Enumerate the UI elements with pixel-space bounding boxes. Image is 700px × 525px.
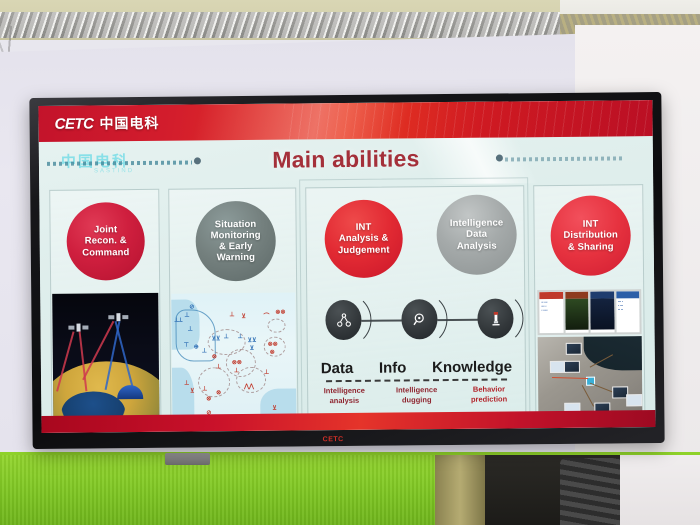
flow-label-data: Data xyxy=(321,360,354,377)
flow-sub-data: Intelligence analysis xyxy=(311,386,377,407)
cetc-logo-cn: 中国电科 xyxy=(99,113,159,134)
panel-row: Joint Recon. & Command xyxy=(49,184,645,428)
panel-situation-monitoring[interactable]: Situation Monitoring & Early Warning xyxy=(168,187,298,426)
map-ring-6 xyxy=(267,319,285,333)
map-ring-3 xyxy=(198,367,230,397)
panel-int-analysis-wrapper: INT Analysis & Judgement Intelligence Da… xyxy=(305,185,526,425)
magnifier-icon xyxy=(411,311,428,328)
panel-joint-recon[interactable]: Joint Recon. & Command xyxy=(49,189,161,428)
bubble-ida-label: Intelligence Data Analysis xyxy=(450,218,504,252)
dot-node-right xyxy=(496,154,503,161)
thumbnail-3[interactable] xyxy=(590,291,614,332)
network-node-3 xyxy=(564,361,580,373)
process-flow: Data Info Knowledge Intelligence analysi… xyxy=(307,298,525,420)
tv-screen: CETC 中国电科 中国电科 SASTIND Main abilities xyxy=(38,100,655,433)
network-link-1 xyxy=(552,377,588,379)
bubble-int-analysis-label: INT Analysis & Judgement xyxy=(338,222,390,256)
band-linework xyxy=(284,100,653,140)
thumbnail-1[interactable]: ▪▪ ▪▪▪▪▪▪ ▪▪ ▪▪▪▪ xyxy=(539,292,563,333)
panel-int-distribution[interactable]: INT Distribution & Sharing ▪▪ ▪▪▪▪▪▪ ▪▪ … xyxy=(533,184,645,423)
thumbnail-4[interactable]: ▪▪▪ ▪▪ ▪▪▪▪▪ ▪▪ xyxy=(616,291,640,332)
flow-label-info: Info xyxy=(379,359,407,376)
panel-int-analysis[interactable]: INT Analysis & Judgement Intelligence Da… xyxy=(305,185,526,425)
tv-brand-logo: CETC xyxy=(323,436,344,443)
floor-right xyxy=(620,455,700,525)
bubble-int-analysis[interactable]: INT Analysis & Judgement xyxy=(324,199,403,278)
satellite-icon-1 xyxy=(68,323,88,331)
flow-main-labels: Data Info Knowledge xyxy=(308,358,525,377)
flow-sub-labels: Intelligence analysis Intelligence duggi… xyxy=(308,384,525,406)
intel-report-thumbnails: ▪▪ ▪▪▪▪▪▪ ▪▪ ▪▪▪▪ xyxy=(537,289,641,335)
thumbnail-2[interactable] xyxy=(565,292,589,333)
watermark-subtext: SASTIND xyxy=(94,168,134,174)
bubble-situation-label: Situation Monitoring & Early Warning xyxy=(210,218,261,263)
flow-node-knowledge[interactable] xyxy=(477,298,513,338)
flow-node-data[interactable] xyxy=(325,300,361,340)
bubble-int-distribution-label: INT Distribution & Sharing xyxy=(563,219,618,253)
tv-display: CETC 中国电科 中国电科 SASTIND Main abilities xyxy=(29,92,664,449)
bubble-joint-recon-label: Joint Recon. & Command xyxy=(82,224,129,258)
cetc-logo: CETC 中国电科 xyxy=(54,113,159,134)
dot-node-left xyxy=(194,157,201,164)
network-node-1 xyxy=(566,343,582,355)
image-network-satellite-map xyxy=(538,336,643,419)
bubble-intelligence-data-analysis[interactable]: Intelligence Data Analysis xyxy=(436,194,517,275)
flow-label-knowledge: Knowledge xyxy=(432,358,512,376)
microscope-icon xyxy=(487,310,504,327)
network-link-4 xyxy=(582,385,594,407)
bubble-situation-monitoring[interactable]: Situation Monitoring & Early Warning xyxy=(195,201,276,282)
dotted-rule-left xyxy=(47,160,192,165)
scene: CETC 中国电科 中国电科 SASTIND Main abilities xyxy=(0,0,700,525)
bubble-joint-recon[interactable]: Joint Recon. & Command xyxy=(66,202,145,281)
network-node-7 xyxy=(626,394,642,406)
olive-post xyxy=(435,455,485,525)
bubble-int-distribution[interactable]: INT Distribution & Sharing xyxy=(550,195,631,276)
flow-node-info[interactable] xyxy=(401,299,437,339)
wall-mount-plate xyxy=(165,453,210,465)
flow-divider xyxy=(326,378,507,382)
molecule-icon xyxy=(335,311,352,328)
image-satellite-globe xyxy=(52,293,159,424)
flow-sub-knowledge: Behavior prediction xyxy=(456,384,522,405)
presentation-slide: CETC 中国电科 中国电科 SASTIND Main abilities xyxy=(38,100,655,433)
page-title: Main abilities xyxy=(272,145,419,173)
image-tactical-map: ⟂⟂ ⊥ ⊥ ⊤ ⊕ ⊥ ⊻⊻ ⊥ ⊥ ⊻⊻ ⊻ ⊘ ⊥ xyxy=(171,292,296,422)
flow-sub-info: Intelligence dugging xyxy=(384,385,450,406)
cetc-logo-en: CETC xyxy=(54,115,93,132)
